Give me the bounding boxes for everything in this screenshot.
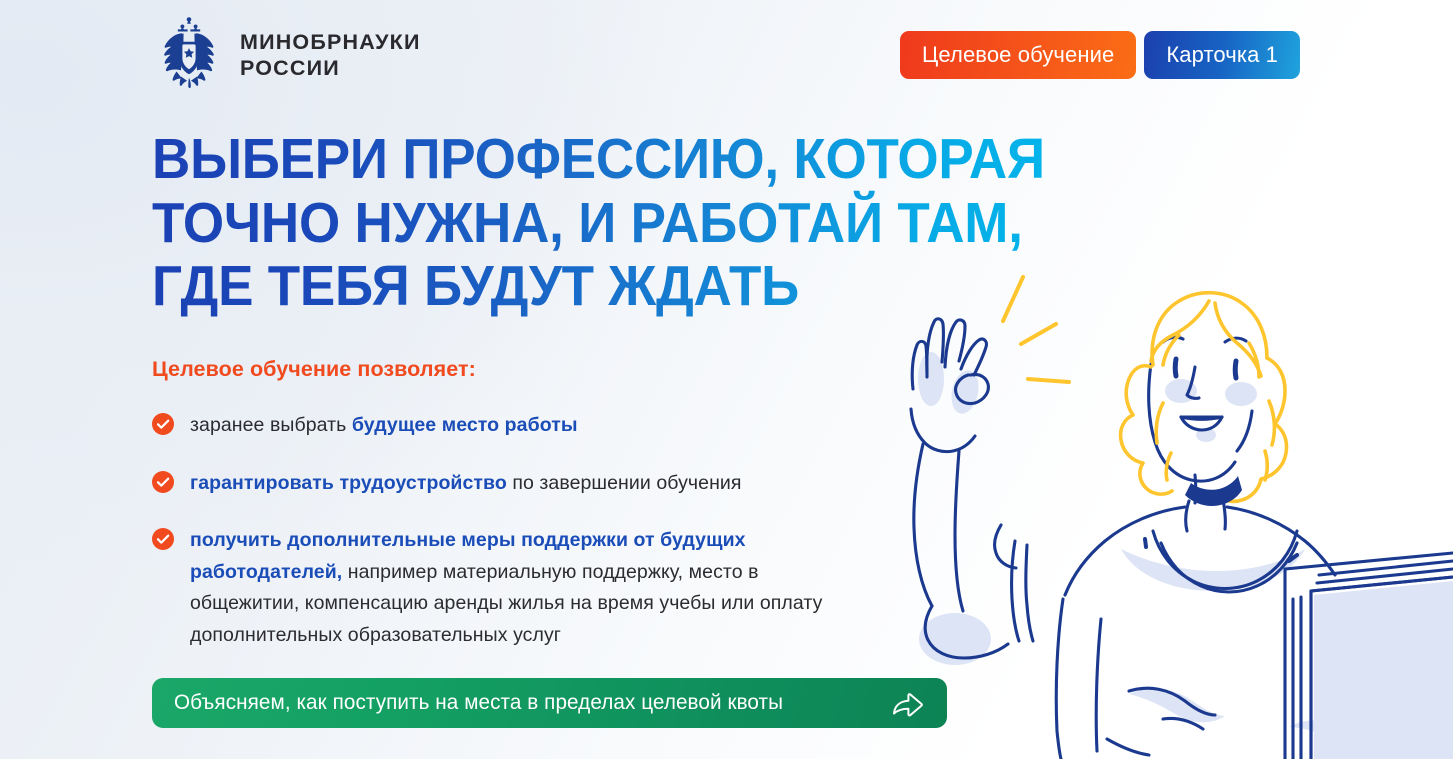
cta-label: Объясняем, как поступить на места в пред…: [174, 691, 866, 715]
list-item-text: получить дополнительные меры поддержки о…: [190, 525, 852, 651]
ministry-name: МИНОБРНАУКИ РОССИИ: [240, 29, 421, 82]
headline: Выбери профессию, которая точно нужна, и…: [152, 128, 1110, 319]
list-item-text: гарантировать трудоустройство по заверше…: [190, 468, 742, 500]
list-item: гарантировать трудоустройство по заверше…: [152, 468, 852, 500]
check-circle-icon: [152, 413, 174, 435]
benefits-title: Целевое обучение позволяет:: [152, 357, 852, 382]
cta-button[interactable]: Объясняем, как поступить на места в пред…: [152, 678, 947, 728]
badge-topic[interactable]: Целевое обучение: [900, 31, 1136, 79]
benefit-lead-0: заранее выбрать: [190, 414, 352, 436]
check-circle-icon: [152, 471, 174, 493]
header: МИНОБРНАУКИ РОССИИ Целевое обучение Карт…: [0, 0, 1453, 105]
list-item: заранее выбрать будущее место работы: [152, 410, 852, 442]
list-item: получить дополнительные меры поддержки о…: [152, 525, 852, 651]
infographic-card: МИНОБРНАУКИ РОССИИ Целевое обучение Карт…: [0, 0, 1453, 759]
benefit-bold-1: гарантировать трудоустройство: [190, 472, 507, 494]
russian-coat-of-arms-icon: [152, 14, 226, 96]
check-circle-icon: [152, 528, 174, 550]
share-arrow-icon[interactable]: [891, 688, 925, 718]
benefit-bold-0: будущее место работы: [352, 414, 578, 436]
badge-card-number[interactable]: Карточка 1: [1144, 31, 1300, 79]
badge-group: Целевое обучение Карточка 1: [900, 31, 1300, 79]
ministry-brand: МИНОБРНАУКИ РОССИИ: [152, 14, 421, 96]
benefit-tail-1: по завершении обучения: [507, 472, 742, 494]
list-item-text: заранее выбрать будущее место работы: [190, 410, 578, 442]
benefits-block: Целевое обучение позволяет: заранее выбр…: [152, 357, 852, 677]
